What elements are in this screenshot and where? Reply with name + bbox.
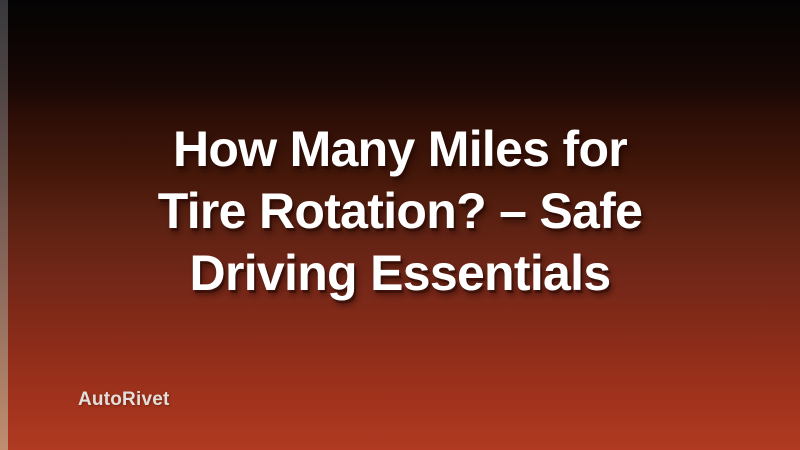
share-card: How Many Miles for Tire Rotation? – Safe…	[0, 0, 800, 450]
title-line-2: Tire Rotation? – Safe	[28, 180, 772, 242]
title-line-1: How Many Miles for	[28, 118, 772, 180]
brand-logo-text: AutoRivet	[78, 389, 170, 411]
title-line-3: Driving Essentials	[28, 242, 772, 304]
page-title: How Many Miles for Tire Rotation? – Safe…	[0, 118, 800, 304]
